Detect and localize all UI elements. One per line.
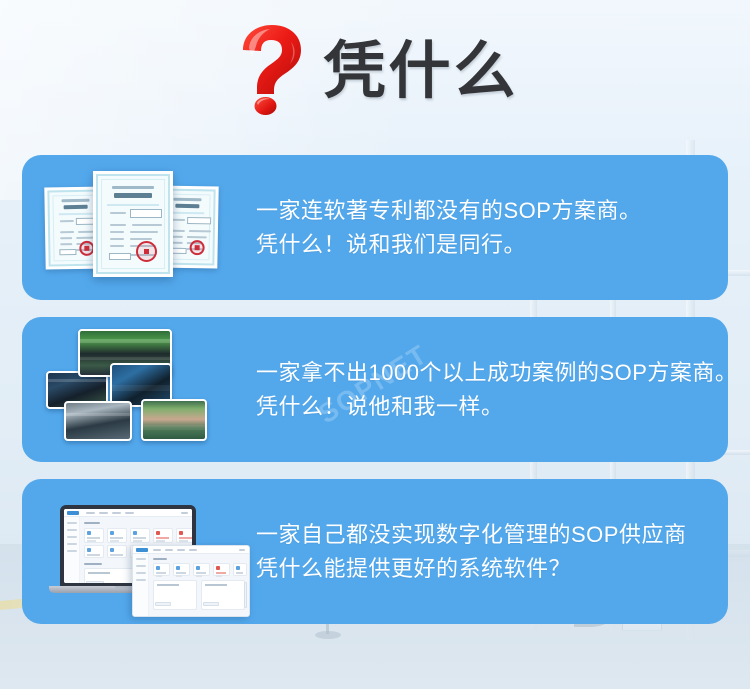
laptop-dashboard-software-image <box>22 479 250 624</box>
card-patent-text: 一家连软著专利都没有的SOP方案商。 凭什么！说和我们是同行。 <box>250 194 728 262</box>
factory-production-line-photo-collage <box>22 317 250 462</box>
red-question-mark-icon <box>231 24 309 116</box>
card-patent[interactable]: 一家连软著专利都没有的SOP方案商。 凭什么！说和我们是同行。 <box>22 155 728 300</box>
card-line: 凭什么！说和我们是同行。 <box>256 228 710 262</box>
floating-window-screenshot <box>132 545 250 617</box>
cards-list: 一家连软著专利都没有的SOP方案商。 凭什么！说和我们是同行。 <box>22 155 728 641</box>
card-line: 一家连软著专利都没有的SOP方案商。 <box>256 194 710 228</box>
card-line: 一家拿不出1000个以上成功案例的SOP方案商。 <box>256 356 728 390</box>
page-title: 凭什么 <box>323 41 518 103</box>
page-header: 凭什么 <box>0 0 750 140</box>
card-digital[interactable]: 一家自己都没实现数字化管理的SOP供应商 凭什么能提供更好的系统软件？ <box>22 479 728 624</box>
card-line: 凭什么能提供更好的系统软件？ <box>256 552 710 586</box>
card-line: 凭什么！说他和我一样。 <box>256 390 728 424</box>
card-digital-text: 一家自己都没实现数字化管理的SOP供应商 凭什么能提供更好的系统软件？ <box>250 518 728 586</box>
software-copyright-certificates-image <box>22 155 250 300</box>
card-line: 一家自己都没实现数字化管理的SOP供应商 <box>256 518 710 552</box>
card-cases-text: SOPNET 一家拿不出1000个以上成功案例的SOP方案商。 凭什么！说他和我… <box>250 356 728 424</box>
card-cases[interactable]: SOPNET 一家拿不出1000个以上成功案例的SOP方案商。 凭什么！说他和我… <box>22 317 728 462</box>
